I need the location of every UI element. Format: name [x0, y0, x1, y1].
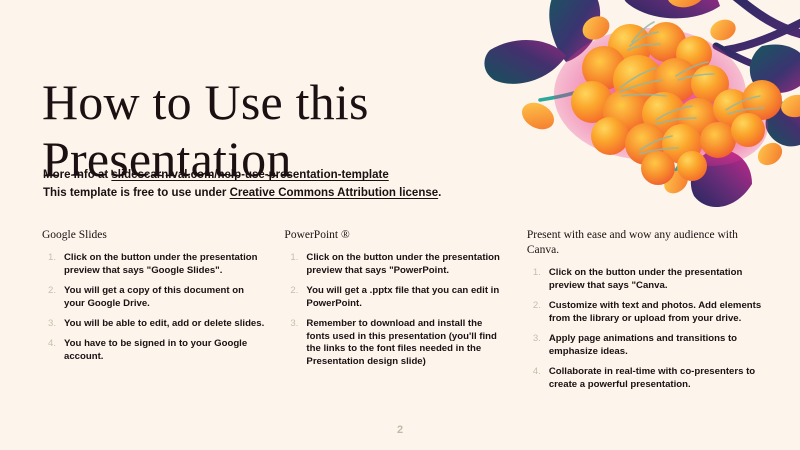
- slidescarnival-help-link[interactable]: slidescarnival.com/help-use-presentation…: [111, 169, 388, 181]
- steps-list-google-slides: Click on the button under the presentati…: [42, 252, 264, 364]
- steps-list-canva: Click on the button under the presentati…: [527, 267, 772, 392]
- list-item: Remember to download and install the fon…: [306, 318, 506, 369]
- floral-illustration: [480, 0, 800, 234]
- license-prefix-label: This template is free to use under: [43, 187, 230, 199]
- subtitle-line-2: This template is free to use under Creat…: [43, 185, 441, 203]
- column-heading-canva: Present with ease and wow any audience w…: [527, 228, 772, 258]
- more-info-label: More info at: [43, 169, 111, 181]
- list-item: You will be able to edit, add or delete …: [64, 318, 264, 331]
- list-item: You will get a copy of this document on …: [64, 285, 264, 311]
- column-heading-powerpoint: PowerPoint ®: [284, 228, 506, 243]
- column-google-slides: Google Slides Click on the button under …: [42, 228, 284, 391]
- column-canva: Present with ease and wow any audience w…: [527, 228, 772, 391]
- list-item: You will get a .pptx file that you can e…: [306, 285, 506, 311]
- column-powerpoint: PowerPoint ® Click on the button under t…: [284, 228, 526, 391]
- list-item: Click on the button under the presentati…: [549, 267, 772, 293]
- presentation-slide: How to Use this Presentation More info a…: [0, 0, 800, 450]
- subtitle-block: More info at slidescarnival.com/help-use…: [43, 167, 441, 203]
- list-item: Collaborate in real-time with co-present…: [549, 366, 772, 392]
- steps-list-powerpoint: Click on the button under the presentati…: [284, 252, 506, 369]
- column-heading-google-slides: Google Slides: [42, 228, 264, 243]
- list-item: Click on the button under the presentati…: [306, 252, 506, 278]
- list-item: Apply page animations and transitions to…: [549, 333, 772, 359]
- subtitle-line-1: More info at slidescarnival.com/help-use…: [43, 167, 441, 185]
- creative-commons-license-link[interactable]: Creative Commons Attribution license: [230, 187, 439, 199]
- instruction-columns: Google Slides Click on the button under …: [42, 228, 772, 391]
- license-suffix-label: .: [438, 187, 441, 199]
- list-item: Customize with text and photos. Add elem…: [549, 300, 772, 326]
- page-number: 2: [0, 424, 800, 436]
- list-item: Click on the button under the presentati…: [64, 252, 264, 278]
- list-item: You have to be signed in to your Google …: [64, 338, 264, 364]
